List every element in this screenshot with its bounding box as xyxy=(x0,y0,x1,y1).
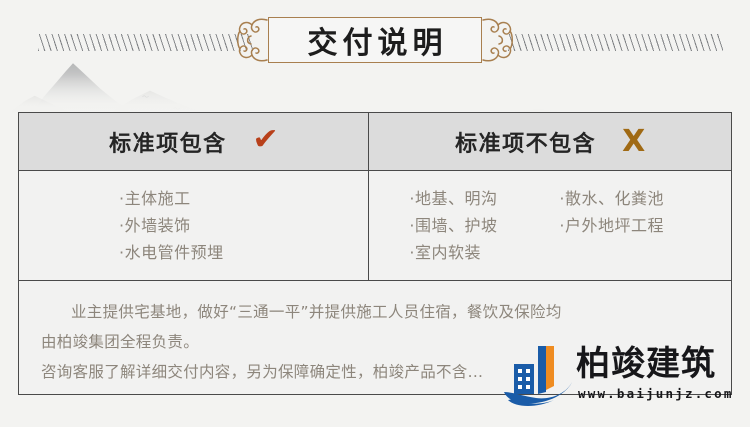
note-line-1: 业主提供宅基地，做好“三通一平”并提供施工人员住宿，餐饮及保险均 xyxy=(41,297,709,327)
page-title: 交付说明 xyxy=(240,12,510,68)
excluded-header-label: 标准项不包含 xyxy=(455,126,596,158)
list-item: ·外墙装饰 xyxy=(119,212,224,239)
header-cell-included: 标准项包含 ✔ xyxy=(19,113,368,170)
body-cell-excluded: ·地基、明沟 ·围墙、护坡 ·室内软装 ·散水、化粪池 ·户外地坪工程 xyxy=(369,171,731,280)
included-header-label: 标准项包含 xyxy=(109,126,227,158)
hatch-lines-left xyxy=(38,34,253,51)
excluded-items-list-column-1: ·地基、明沟 ·围墙、护坡 ·室内软装 xyxy=(409,185,497,266)
hatch-lines-right xyxy=(508,34,723,51)
bird-icon: 〜 xyxy=(142,94,149,101)
table-body-row: ·主体施工 ·外墙装饰 ·水电管件预埋 ·地基、明沟 ·围墙、护坡 ·室内软装 … xyxy=(19,171,731,281)
table-header-row: 标准项包含 ✔ 标准项不包含 X xyxy=(19,113,731,171)
list-item: ·室内软装 xyxy=(409,239,497,266)
list-item: ·地基、明沟 xyxy=(409,185,497,212)
list-item: ·户外地坪工程 xyxy=(559,212,664,239)
list-item: ·围墙、护坡 xyxy=(409,212,497,239)
delivery-scope-table: 标准项包含 ✔ 标准项不包含 X ·主体施工 ·外墙装饰 ·水电管件预埋 xyxy=(18,112,732,395)
body-cell-included: ·主体施工 ·外墙装饰 ·水电管件预埋 xyxy=(19,171,368,280)
title-band: 交付说明 xyxy=(0,8,750,70)
list-item: ·水电管件预埋 xyxy=(119,239,224,266)
header-cell-excluded: 标准项不包含 X xyxy=(369,113,731,170)
included-items-list: ·主体施工 ·外墙装饰 ·水电管件预埋 xyxy=(119,185,224,266)
cross-mark-icon: X xyxy=(622,127,645,157)
note-line-3: 咨询客服了解详细交付内容，另为保障确定性，柏竣产品不含... xyxy=(41,357,709,387)
note-line-2: 由柏竣集团全程负责。 xyxy=(41,327,709,357)
excluded-items-list-column-2: ·散水、化粪池 ·户外地坪工程 xyxy=(559,185,664,239)
list-item: ·散水、化粪池 xyxy=(559,185,664,212)
note-section: 业主提供宅基地，做好“三通一平”并提供施工人员住宿，餐饮及保险均 由柏竣集团全程… xyxy=(19,281,731,394)
list-item: ·主体施工 xyxy=(119,185,224,212)
delivery-notice-page: 〜 〜 xyxy=(0,0,750,427)
check-mark-icon: ✔ xyxy=(252,125,278,155)
title-plaque: 交付说明 xyxy=(240,12,510,68)
